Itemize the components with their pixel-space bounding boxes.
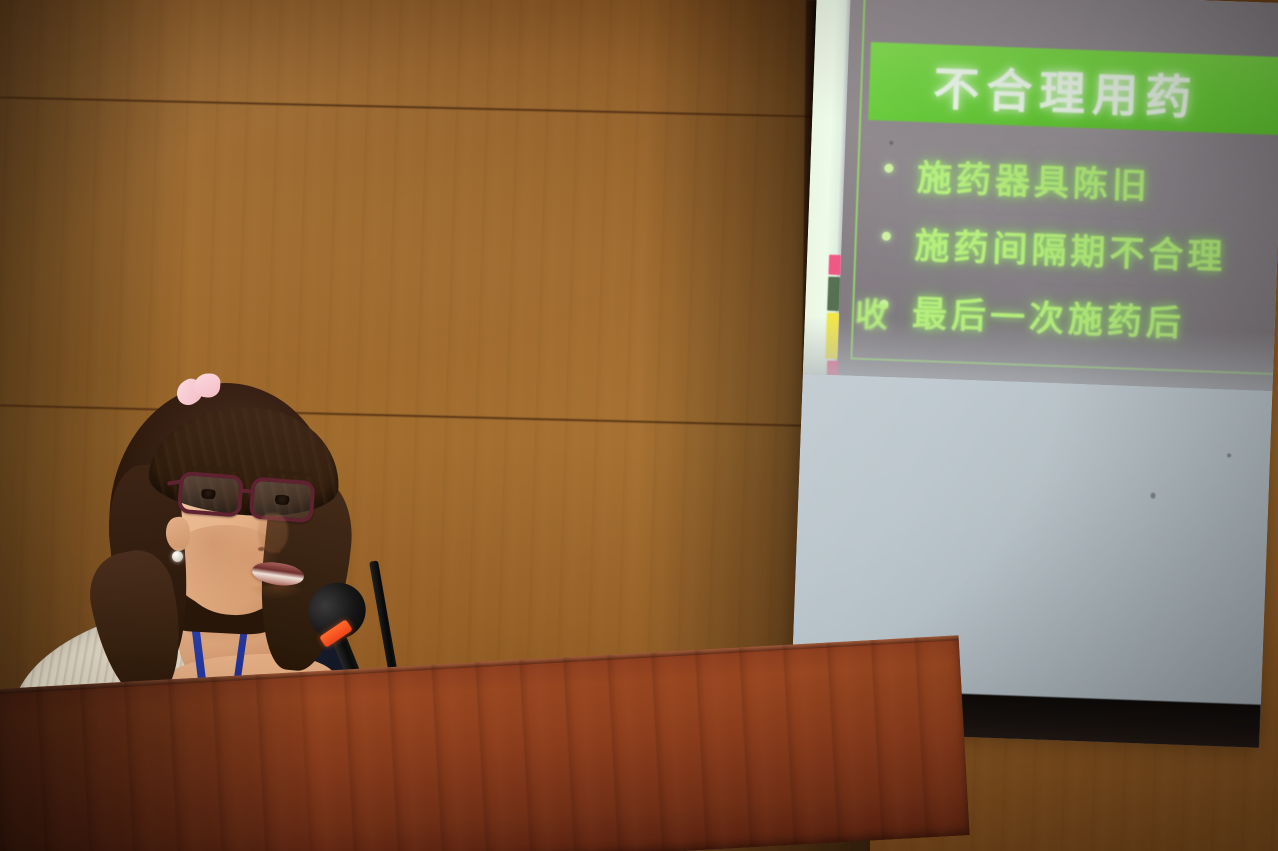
bullet-text: 施药间隔期不合理	[914, 218, 1228, 280]
nostril	[258, 547, 265, 551]
list-item: 施药间隔期不合理	[873, 216, 1278, 284]
nostril	[274, 549, 281, 553]
bullet-text: 施药器具陈旧	[916, 150, 1152, 210]
presentation-photo-scene: 不合理用药 施药器具陈旧 施药间隔期不合理 最后一次施药后 收	[0, 0, 1278, 851]
lip-shadow	[248, 585, 306, 599]
podium-shadow-left	[0, 672, 311, 851]
bow-lobe	[193, 373, 221, 399]
pearl-earring	[172, 551, 183, 562]
bullet-dot-icon	[882, 232, 891, 241]
glasses-bridge	[241, 489, 255, 494]
projected-slide: 不合理用药 施药器具陈旧 施药间隔期不合理 最后一次施药后 收	[803, 0, 1278, 391]
slide-chip-pink-icon	[828, 255, 841, 275]
projection-screen: 不合理用药 施药器具陈旧 施药间隔期不合理 最后一次施药后 收	[790, 0, 1278, 748]
bullet-dot-icon	[884, 164, 893, 173]
slide-chip-green-icon	[827, 277, 840, 311]
